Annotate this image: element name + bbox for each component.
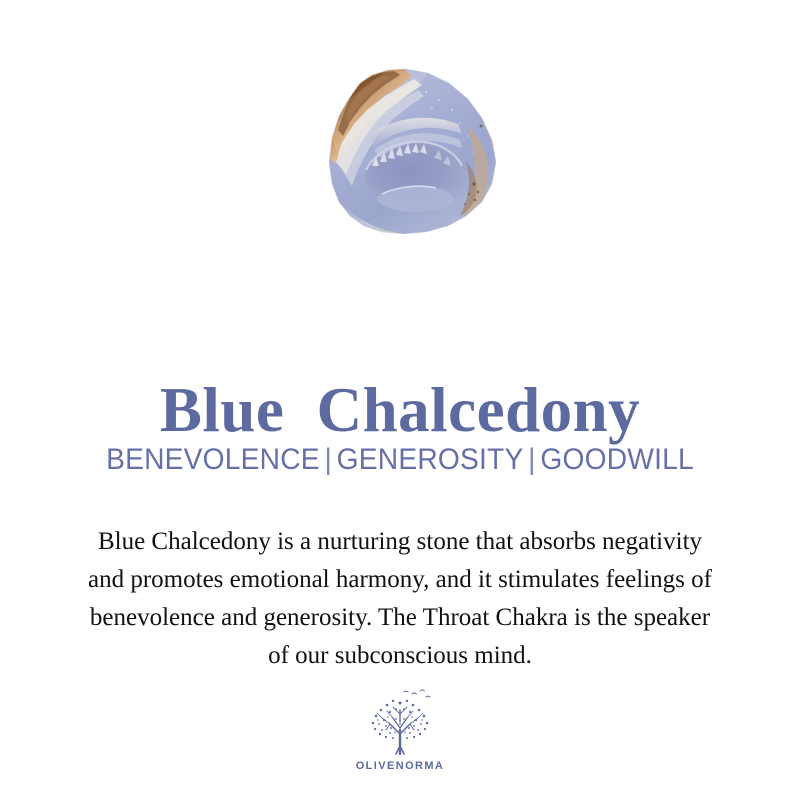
blue-chalcedony-geode-illustration <box>308 66 504 242</box>
description-line: and promotes emotional harmony, and it s… <box>18 561 782 599</box>
description-line: of our subconscious mind. <box>18 637 782 675</box>
description-line: Blue Chalcedony is a nurturing stone tha… <box>18 523 782 561</box>
tree-of-life-icon <box>360 686 440 758</box>
keyword-generosity: GENEROSITY <box>337 443 524 476</box>
keyword-goodwill: GOODWILL <box>540 443 693 476</box>
gemstone-image <box>308 66 504 242</box>
keyword-tagline: BENEVOLENCE|GENEROSITY|GOODWILL <box>24 443 776 476</box>
keyword-separator-2: | <box>523 443 540 476</box>
brand-wordmark: OLIVENORMA <box>356 760 445 772</box>
brand-logo[interactable]: OLIVENORMA <box>0 686 800 772</box>
page-title: Blue Chalcedony <box>0 378 800 442</box>
product-info-card: Blue Chalcedony BENEVOLENCE|GENEROSITY|G… <box>0 0 800 800</box>
description-line: benevolence and generosity. The Throat C… <box>18 599 782 637</box>
description-paragraph: Blue Chalcedony is a nurturing stone tha… <box>18 523 782 675</box>
keyword-separator-1: | <box>320 443 337 476</box>
keyword-benevolence: BENEVOLENCE <box>106 443 320 476</box>
